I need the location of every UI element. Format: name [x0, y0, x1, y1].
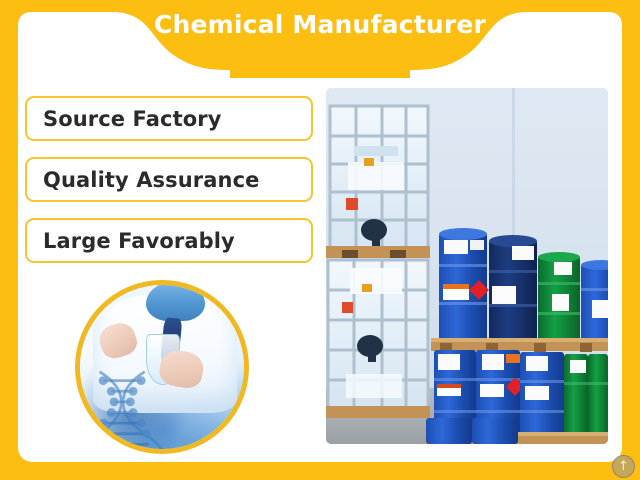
feature-list: Source Factory Quality Assurance Large F…: [25, 96, 313, 279]
feature-pill-quality-assurance[interactable]: Quality Assurance: [25, 157, 313, 202]
content-card: Source Factory Quality Assurance Large F…: [18, 12, 622, 462]
feature-pill-source-factory[interactable]: Source Factory: [25, 96, 313, 141]
arrow-up-glyph: ↑: [618, 460, 629, 473]
chemical-drums-warehouse-photo: [326, 88, 608, 444]
dna-helix-icon: [87, 370, 195, 449]
lab-photo-scene: [80, 285, 244, 449]
poster-root: Source Factory Quality Assurance Large F…: [0, 0, 640, 480]
warehouse-scene: [326, 88, 608, 444]
feature-label: Large Favorably: [43, 229, 235, 253]
laboratory-scientist-photo: [75, 280, 249, 454]
feature-label: Quality Assurance: [43, 168, 259, 192]
face-mask-shape: [146, 285, 205, 321]
feature-label: Source Factory: [43, 107, 222, 131]
feature-pill-large-favorably[interactable]: Large Favorably: [25, 218, 313, 263]
arrow-up-icon[interactable]: ↑: [612, 455, 635, 478]
